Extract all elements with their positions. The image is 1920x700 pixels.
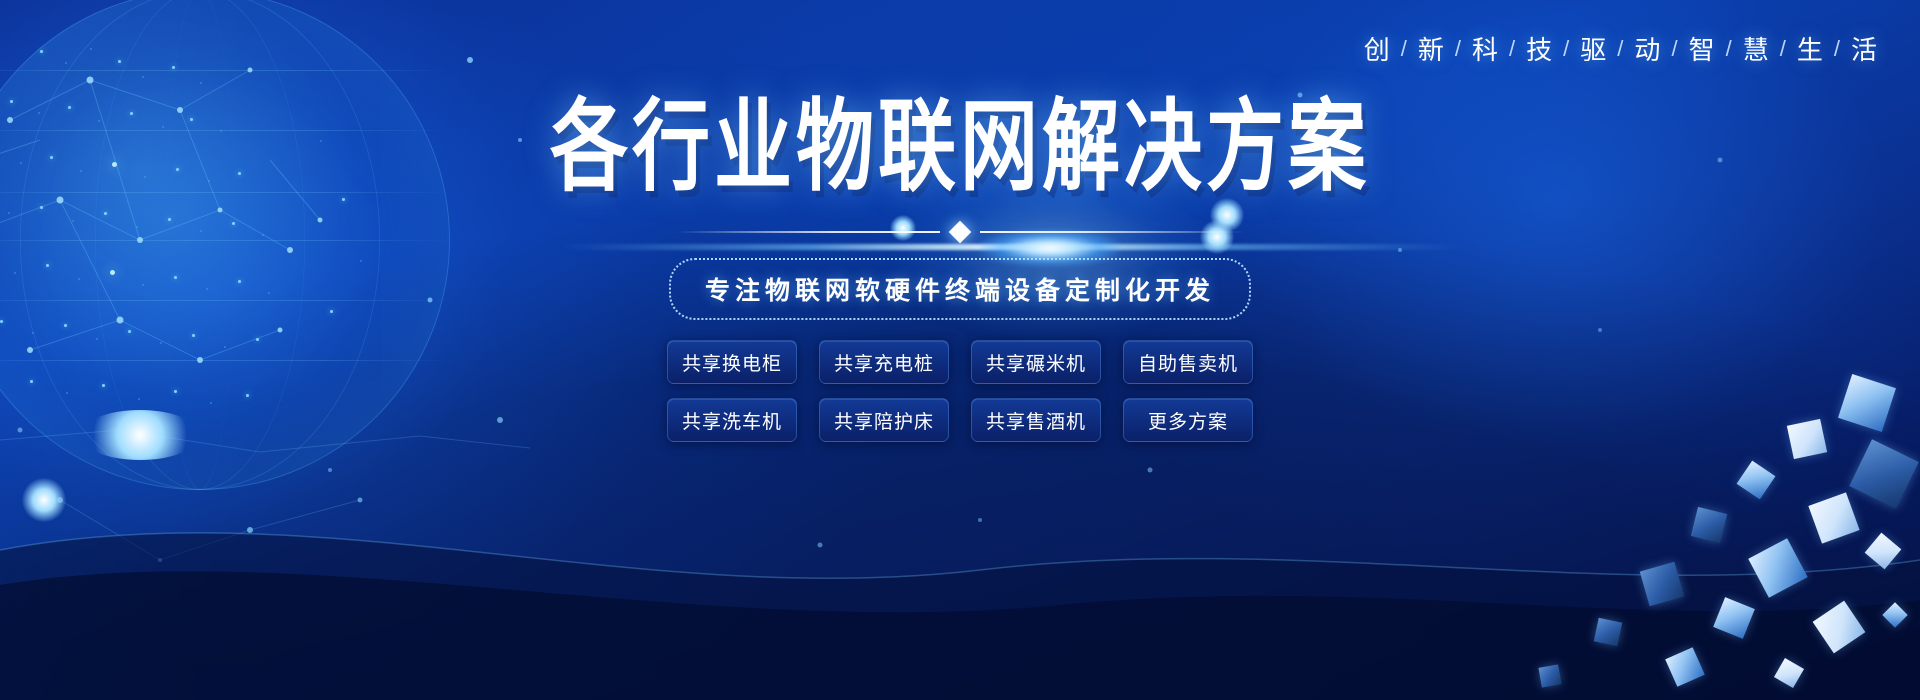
subtitle-pill: 专注物联网软硬件终端设备定制化开发 — [669, 258, 1251, 320]
tagline-char: 科 — [1471, 30, 1501, 67]
tagline-char: 智 — [1688, 30, 1718, 67]
divider-line-left — [675, 231, 940, 233]
tagline-separator: / — [1826, 36, 1850, 62]
solution-button[interactable]: 共享洗车机 — [667, 398, 797, 442]
tagline-separator: / — [1501, 36, 1525, 62]
tagline: 创/新/科/技/驱/动/智/慧/生/活 — [1363, 30, 1880, 67]
solution-button-row: 共享换电柜共享充电桩共享碾米机自助售卖机 — [667, 340, 1253, 384]
solution-button[interactable]: 共享陪护床 — [819, 398, 949, 442]
diamond-icon — [949, 221, 972, 244]
tagline-char: 慧 — [1742, 30, 1772, 67]
tagline-separator: / — [1609, 36, 1633, 62]
tagline-char: 动 — [1633, 30, 1663, 67]
tagline-separator: / — [1772, 36, 1796, 62]
solution-button[interactable]: 共享充电桩 — [819, 340, 949, 384]
tagline-char: 驱 — [1579, 30, 1609, 67]
solution-button-row: 共享洗车机共享陪护床共享售酒机更多方案 — [667, 398, 1253, 442]
solution-button[interactable]: 自助售卖机 — [1123, 340, 1253, 384]
solution-button[interactable]: 共享碾米机 — [971, 340, 1101, 384]
solution-button[interactable]: 更多方案 — [1123, 398, 1253, 442]
tagline-separator: / — [1447, 36, 1471, 62]
decorative-divider — [0, 224, 1920, 240]
tagline-char: 技 — [1525, 30, 1555, 67]
divider-line-right — [980, 231, 1245, 233]
tagline-separator: / — [1393, 36, 1417, 62]
solution-button-grid: 共享换电柜共享充电桩共享碾米机自助售卖机共享洗车机共享陪护床共享售酒机更多方案 — [667, 340, 1253, 442]
tagline-separator: / — [1718, 36, 1742, 62]
tagline-char: 活 — [1850, 30, 1880, 67]
solution-button[interactable]: 共享售酒机 — [971, 398, 1101, 442]
tagline-char: 生 — [1796, 30, 1826, 67]
tagline-separator: / — [1555, 36, 1579, 62]
iot-solution-banner: 创/新/科/技/驱/动/智/慧/生/活 各行业物联网解决方案 专注物联网软硬件终… — [0, 0, 1920, 700]
solution-button[interactable]: 共享换电柜 — [667, 340, 797, 384]
page-title: 各行业物联网解决方案 — [0, 98, 1920, 198]
tagline-separator: / — [1663, 36, 1687, 62]
tagline-char: 新 — [1417, 30, 1447, 67]
banner-content: 创/新/科/技/驱/动/智/慧/生/活 各行业物联网解决方案 专注物联网软硬件终… — [0, 0, 1920, 700]
tagline-char: 创 — [1363, 30, 1393, 67]
